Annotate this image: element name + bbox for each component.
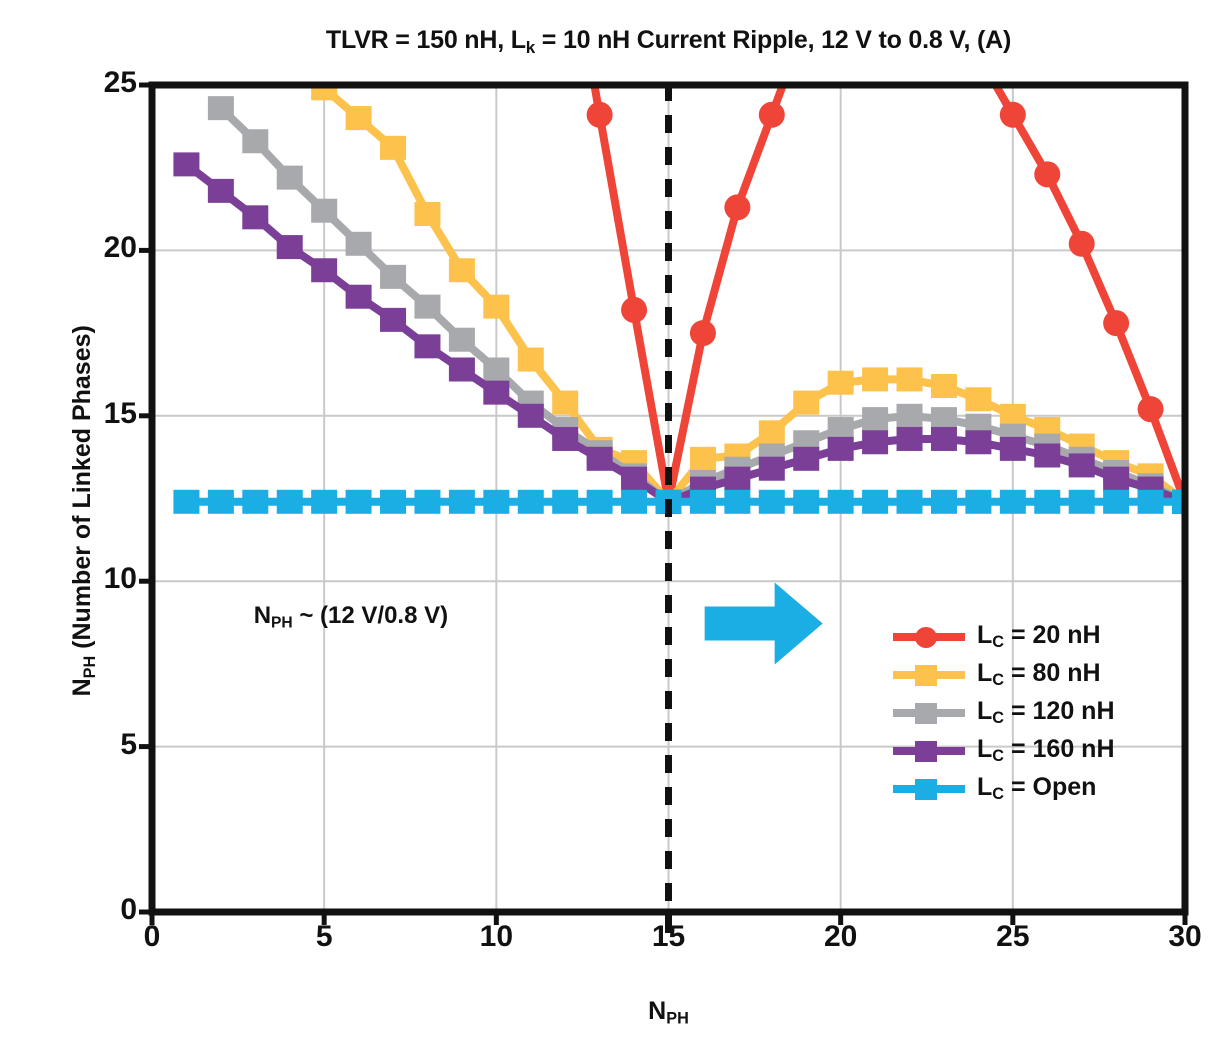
- x-tick-label-3: 15: [609, 922, 729, 952]
- data-point: [242, 205, 268, 229]
- legend-label-post: = 160 nH: [1004, 735, 1114, 763]
- legend-marker: [915, 627, 937, 648]
- legend-label-pre: L: [977, 735, 992, 763]
- data-point: [931, 374, 957, 398]
- chart-figure: TLVR = 150 nH, Lk = 10 nH Current Ripple…: [0, 0, 1211, 1046]
- y-tick-label-5: 25: [17, 68, 137, 98]
- arrow-right-icon: [705, 583, 823, 665]
- data-point: [1000, 437, 1026, 461]
- legend-marker: [915, 665, 937, 686]
- data-point: [621, 490, 647, 514]
- legend-swatch-square-icon: [893, 694, 965, 732]
- x-tick-label-4: 20: [781, 922, 901, 952]
- legend-item-2[interactable]: LC = 120 nH: [893, 694, 1185, 732]
- data-point: [897, 490, 923, 514]
- legend-label-post: = 120 nH: [1004, 697, 1114, 725]
- legend-label-4: LC = Open: [977, 773, 1096, 804]
- y-axis-label-post: (Number of Linked Phases): [68, 325, 96, 656]
- data-point: [1138, 396, 1164, 422]
- annotation-nph-ratio: NPH ~ (12 V/0.8 V): [254, 602, 448, 632]
- data-point: [277, 235, 303, 259]
- data-point: [242, 129, 268, 153]
- legend-label-0: LC = 20 nH: [977, 621, 1101, 652]
- legend-swatch-square-icon: [893, 770, 965, 808]
- data-point: [1103, 467, 1129, 491]
- data-point: [793, 490, 819, 514]
- plot-area: [0, 0, 1211, 1046]
- data-point: [552, 490, 578, 514]
- data-point: [897, 427, 923, 451]
- data-point: [483, 490, 509, 514]
- legend-label-post: = 20 nH: [1004, 621, 1101, 649]
- legend-item-0[interactable]: LC = 20 nH: [893, 618, 1185, 656]
- data-point: [793, 447, 819, 471]
- data-point: [380, 265, 406, 289]
- x-tick-label-5: 25: [953, 922, 1073, 952]
- legend-label-sub: C: [992, 710, 1004, 728]
- data-point: [759, 420, 785, 444]
- data-point: [380, 308, 406, 332]
- data-point: [311, 258, 337, 282]
- data-point: [1069, 453, 1095, 477]
- data-point: [414, 202, 440, 226]
- legend-label-post: = Open: [1004, 773, 1096, 801]
- data-point: [173, 152, 199, 176]
- legend-label-1: LC = 80 nH: [977, 659, 1101, 690]
- data-point: [380, 490, 406, 514]
- data-point: [862, 407, 888, 431]
- data-point: [931, 427, 957, 451]
- data-point: [208, 490, 234, 514]
- data-point: [173, 490, 199, 514]
- legend-marker: [915, 779, 937, 800]
- data-point: [862, 430, 888, 454]
- data-point: [346, 106, 372, 130]
- data-point: [1103, 490, 1129, 514]
- data-point: [449, 328, 475, 352]
- data-point: [1034, 161, 1060, 187]
- data-point: [931, 490, 957, 514]
- data-point: [897, 367, 923, 391]
- legend-swatch-circle-icon: [893, 618, 965, 656]
- legend-marker: [915, 741, 937, 762]
- data-point: [449, 357, 475, 381]
- legend-label-pre: L: [977, 773, 992, 801]
- legend-swatch-square-icon: [893, 732, 965, 770]
- data-point: [414, 295, 440, 319]
- data-point: [1000, 102, 1026, 128]
- annotation-pre: N: [254, 602, 271, 629]
- data-point: [759, 102, 785, 128]
- data-point: [793, 391, 819, 415]
- data-point: [862, 490, 888, 514]
- data-point: [242, 490, 268, 514]
- legend-label-pre: L: [977, 659, 992, 687]
- data-point: [380, 136, 406, 160]
- legend-marker: [915, 703, 937, 724]
- data-point: [1069, 231, 1095, 257]
- data-point: [828, 490, 854, 514]
- x-tick-label-2: 10: [436, 922, 556, 952]
- data-point: [414, 490, 440, 514]
- data-point: [965, 387, 991, 411]
- data-point: [621, 297, 647, 323]
- data-point: [311, 199, 337, 223]
- data-point: [690, 320, 716, 346]
- x-axis-label: NPH: [152, 997, 1185, 1029]
- data-point: [483, 357, 509, 381]
- data-point: [828, 437, 854, 461]
- data-point: [518, 404, 544, 428]
- data-point: [621, 467, 647, 491]
- data-point: [724, 194, 750, 220]
- data-point: [1034, 490, 1060, 514]
- legend-item-1[interactable]: LC = 80 nH: [893, 656, 1185, 694]
- data-point: [449, 258, 475, 282]
- data-point: [449, 490, 475, 514]
- data-point: [724, 467, 750, 491]
- x-axis-label-sub: PH: [666, 1010, 689, 1028]
- data-point: [587, 490, 613, 514]
- legend-label-3: LC = 160 nH: [977, 735, 1115, 766]
- legend-item-3[interactable]: LC = 160 nH: [893, 732, 1185, 770]
- x-tick-label-1: 5: [264, 922, 384, 952]
- data-point: [862, 367, 888, 391]
- y-axis-label-pre: N: [68, 678, 96, 696]
- data-point: [897, 404, 923, 428]
- series-group: [173, 19, 1198, 515]
- data-point: [208, 96, 234, 120]
- data-point: [518, 490, 544, 514]
- legend-label-sub: C: [992, 672, 1004, 690]
- data-point: [311, 490, 337, 514]
- data-point: [277, 490, 303, 514]
- data-point: [1000, 490, 1026, 514]
- annotation-sub: PH: [271, 614, 293, 631]
- y-axis-label-sub: PH: [81, 656, 99, 679]
- legend-label-sub: C: [992, 634, 1004, 652]
- legend-item-4[interactable]: LC = Open: [893, 770, 1185, 808]
- legend-swatch-square-icon: [893, 656, 965, 694]
- data-point: [518, 348, 544, 372]
- y-axis-label: NPH (Number of Linked Phases): [68, 151, 100, 871]
- data-point: [724, 490, 750, 514]
- annotation-post: ~ (12 V/0.8 V): [293, 602, 448, 629]
- data-point: [483, 295, 509, 319]
- data-point: [552, 391, 578, 415]
- data-point: [346, 285, 372, 309]
- x-tick-label-0: 0: [92, 922, 212, 952]
- data-point: [587, 447, 613, 471]
- data-point: [965, 490, 991, 514]
- data-point: [759, 457, 785, 481]
- legend-label-sub: C: [992, 786, 1004, 804]
- data-point: [208, 179, 234, 203]
- legend-label-2: LC = 120 nH: [977, 697, 1115, 728]
- legend-label-pre: L: [977, 621, 992, 649]
- data-point: [277, 166, 303, 190]
- data-point: [346, 490, 372, 514]
- data-point: [828, 371, 854, 395]
- data-point: [552, 427, 578, 451]
- data-point: [414, 334, 440, 358]
- data-point: [690, 447, 716, 471]
- data-point: [759, 490, 785, 514]
- legend-label-pre: L: [977, 697, 992, 725]
- data-point: [1034, 443, 1060, 467]
- data-point: [1069, 490, 1095, 514]
- data-point: [965, 430, 991, 454]
- data-point: [346, 232, 372, 256]
- legend-label-post: = 80 nH: [1004, 659, 1101, 687]
- data-point: [690, 490, 716, 514]
- data-point: [587, 102, 613, 128]
- x-axis-label-pre: N: [648, 997, 666, 1025]
- data-point: [1103, 310, 1129, 336]
- data-point: [483, 381, 509, 405]
- x-tick-label-6: 30: [1125, 922, 1211, 952]
- legend-label-sub: C: [992, 748, 1004, 766]
- y-tick-label-0: 0: [17, 895, 137, 925]
- chart-legend: LC = 20 nHLC = 80 nHLC = 120 nHLC = 160 …: [893, 618, 1185, 808]
- data-point: [1138, 490, 1164, 514]
